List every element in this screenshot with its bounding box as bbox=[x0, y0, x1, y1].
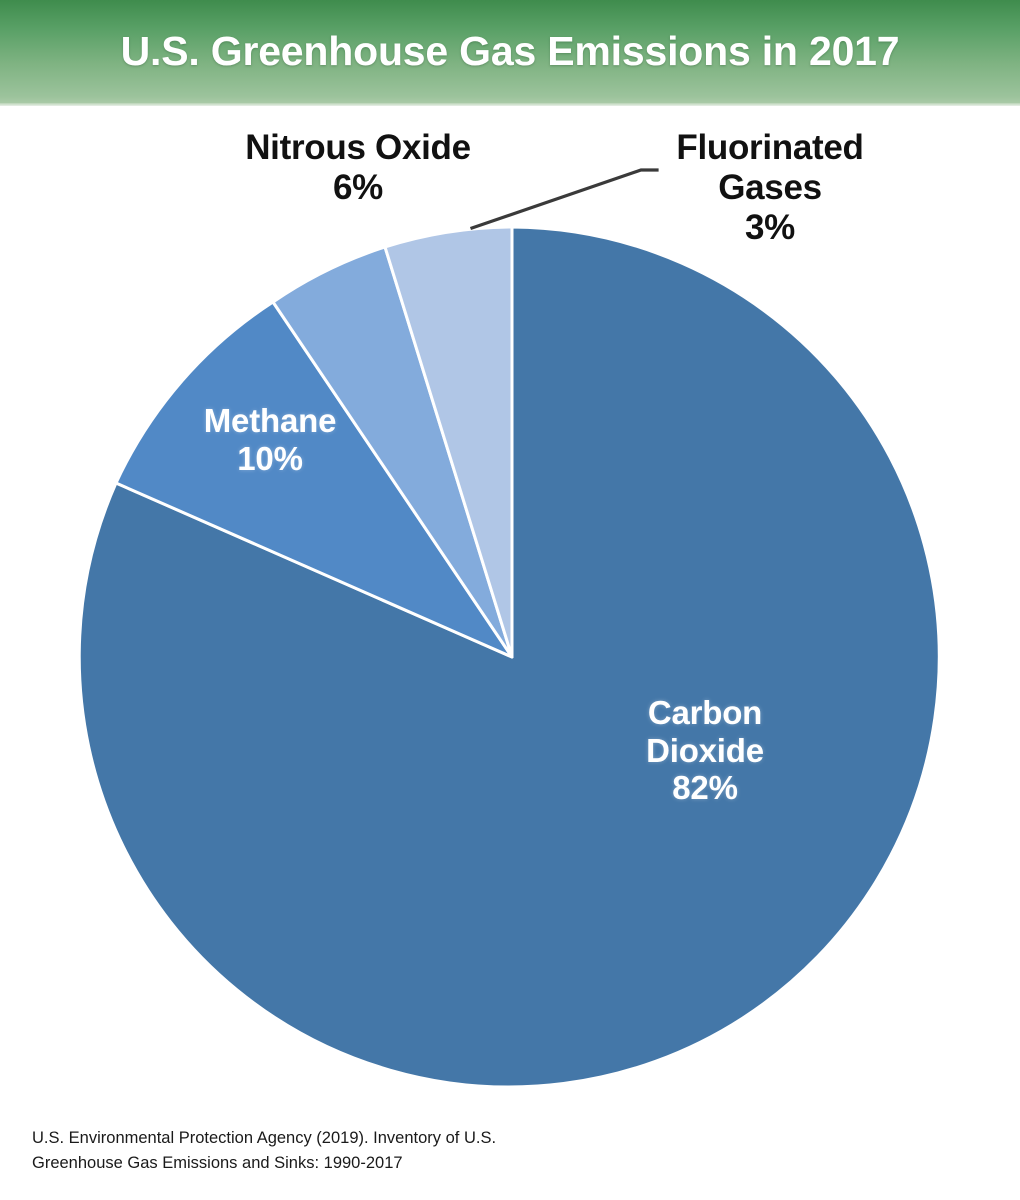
slice-label-methane-value: 10% bbox=[120, 440, 420, 478]
slice-label-nitrous-oxide-name: Nitrous Oxide bbox=[188, 128, 528, 168]
source-citation-line-1: U.S. Environmental Protection Agency (20… bbox=[32, 1126, 752, 1151]
slice-label-methane-name: Methane bbox=[120, 402, 420, 440]
source-citation: U.S. Environmental Protection Agency (20… bbox=[32, 1126, 752, 1176]
slice-label-methane: Methane 10% bbox=[120, 402, 420, 477]
title-banner: U.S. Greenhouse Gas Emissions in 2017 bbox=[0, 0, 1020, 103]
pie-chart-figure: Nitrous Oxide 6% Fluorinated Gases 3% Me… bbox=[0, 106, 1020, 1116]
slice-label-fluorinated-gases-name2: Gases bbox=[620, 168, 920, 208]
slice-label-fluorinated-gases-name: Fluorinated bbox=[620, 128, 920, 168]
slice-label-carbon-dioxide-value: 82% bbox=[560, 769, 850, 807]
slice-label-fluorinated-gases-value: 3% bbox=[620, 208, 920, 248]
pie-chart-svg bbox=[0, 106, 1020, 1116]
slice-label-nitrous-oxide-value: 6% bbox=[188, 168, 528, 208]
slice-label-carbon-dioxide: Carbon Dioxide 82% bbox=[560, 694, 850, 807]
slice-label-carbon-dioxide-name2: Dioxide bbox=[560, 732, 850, 770]
slice-label-nitrous-oxide: Nitrous Oxide 6% bbox=[188, 128, 528, 208]
source-citation-line-2: Greenhouse Gas Emissions and Sinks: 1990… bbox=[32, 1151, 752, 1176]
slice-label-fluorinated-gases: Fluorinated Gases 3% bbox=[620, 128, 920, 248]
slice-label-carbon-dioxide-name: Carbon bbox=[560, 694, 850, 732]
page-title: U.S. Greenhouse Gas Emissions in 2017 bbox=[121, 31, 900, 72]
